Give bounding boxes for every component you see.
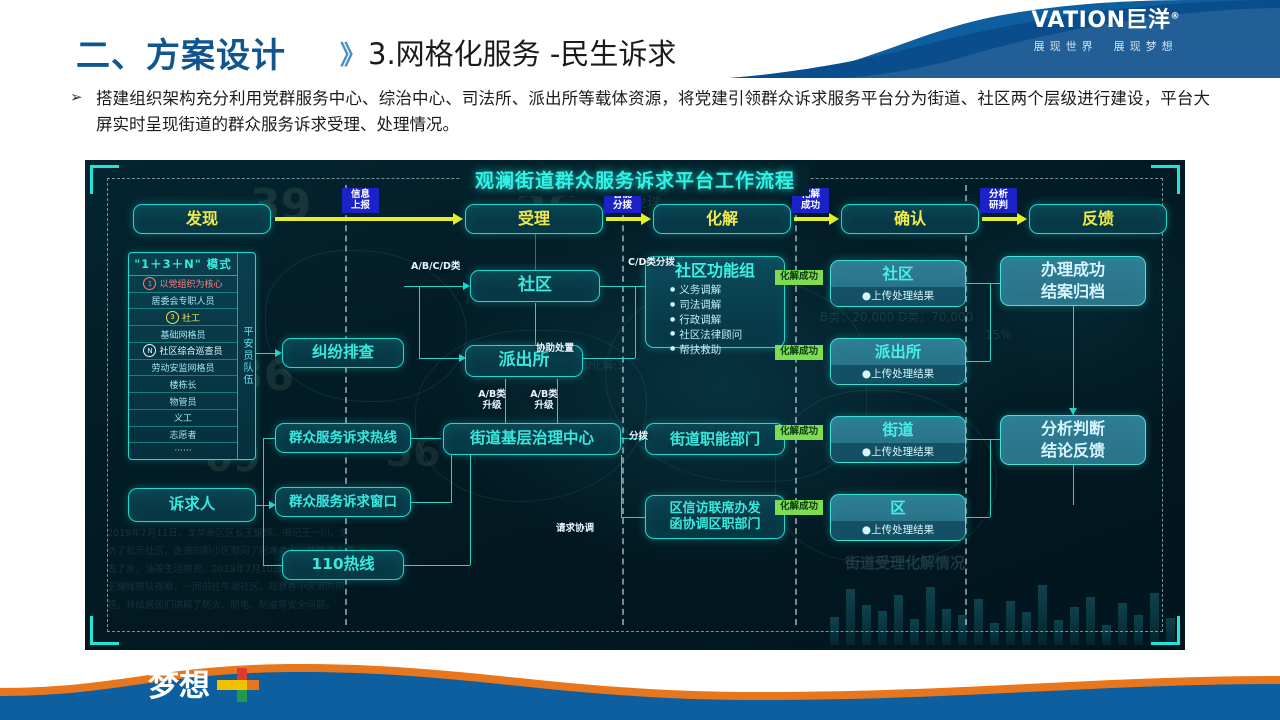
final-line-2: 结案归档 xyxy=(1041,281,1105,303)
corner-bracket xyxy=(90,165,119,194)
group-item: 帮扶救助 xyxy=(670,343,784,358)
flow-arrow-line xyxy=(982,217,1018,221)
corner-bracket xyxy=(1151,616,1180,645)
flow-arrow-head xyxy=(453,213,463,225)
edge-label-cd-dispatch: C/D类分拨 xyxy=(625,256,678,271)
connector xyxy=(263,505,264,565)
mode-row: 1以党组织为核心 xyxy=(129,276,237,293)
edge-label-abcd: A/B/C/D类 xyxy=(408,260,463,275)
flow-node-accept[interactable]: 受理 xyxy=(465,204,603,234)
flow-arrow-line xyxy=(794,217,830,221)
flow-node-street-department[interactable]: 街道职能部门 xyxy=(645,423,785,455)
connector xyxy=(411,438,441,439)
footer-logo-brand: VATION巨洋 xyxy=(166,652,259,668)
connector xyxy=(990,283,991,361)
connector xyxy=(1073,465,1074,505)
edge-label-ab-up-1: A/B类升级 xyxy=(475,388,509,413)
mode-row: 义工 xyxy=(129,410,237,427)
result-note: ●上传处理结果 xyxy=(831,521,965,540)
mode-panel-side-label: 平安员队伍 xyxy=(237,253,255,459)
brand-logo-tagline: 展现世界 展现梦想 xyxy=(1031,38,1180,54)
connector xyxy=(583,358,635,359)
connector xyxy=(966,283,1000,284)
result-node-district[interactable]: 区 ●上传处理结果 xyxy=(830,494,966,541)
result-title: 社区 xyxy=(831,261,965,287)
connector xyxy=(535,234,536,270)
connector xyxy=(600,286,645,287)
result-title: 区 xyxy=(831,495,965,521)
final-node-analysis[interactable]: 分析判断 结论反馈 xyxy=(1000,415,1146,465)
result-note: ●上传处理结果 xyxy=(831,287,965,306)
plus-cross-icon xyxy=(217,668,259,702)
mode-row: 3社工 xyxy=(129,309,237,326)
mode-row: N社区综合巡查员 xyxy=(129,343,237,360)
connector xyxy=(411,502,451,503)
edge-label-ab-up-2: A/B类升级 xyxy=(527,388,561,413)
connector xyxy=(535,303,536,345)
brand-logo: VATION巨洋® 展现世界 展现梦想 xyxy=(1031,10,1180,54)
connector xyxy=(990,439,991,517)
page-subtitle: 》3.网格化服务 -民生诉求 xyxy=(340,31,676,73)
footer-logo: VATION巨洋 梦想 xyxy=(148,652,259,702)
chevron-right-icon: 》 xyxy=(340,41,361,71)
flow-node-window[interactable]: 群众服务诉求窗口 xyxy=(275,487,411,517)
connector xyxy=(263,438,264,506)
mode-panel-title: "1＋3＋N" 模式 xyxy=(129,253,237,276)
flow-arrow-head xyxy=(829,213,839,225)
result-node-community[interactable]: 社区 ●上传处理结果 xyxy=(830,260,966,307)
result-title: 街道 xyxy=(831,417,965,443)
group-item: 义务调解 xyxy=(670,283,784,298)
group-item: 司法调解 xyxy=(670,298,784,313)
final-line-2: 结论反馈 xyxy=(1041,440,1105,462)
connector xyxy=(966,439,1000,440)
connector xyxy=(256,353,276,354)
tag-resolved-4: 化解成功 xyxy=(775,500,823,515)
connector xyxy=(966,517,990,518)
edge-label-request-coord: 请求协调 xyxy=(553,522,597,537)
connector xyxy=(419,358,463,359)
page-title: 二、方案设计 xyxy=(76,28,286,77)
edge-label-dispatch: 分拨 xyxy=(626,430,651,445)
footer-logo-main: 梦想 xyxy=(148,671,210,702)
connector xyxy=(621,517,645,518)
flow-node-110[interactable]: 110热线 xyxy=(282,550,404,580)
connector xyxy=(263,438,275,439)
mode-row: 楼栋长 xyxy=(129,376,237,393)
brand-logo-name: VATION巨洋® xyxy=(1031,10,1180,32)
result-node-street[interactable]: 街道 ●上传处理结果 xyxy=(830,416,966,463)
flow-node-resolve[interactable]: 化解 xyxy=(653,204,791,234)
flow-arrow-head xyxy=(641,213,651,225)
connector-arrow xyxy=(1069,408,1077,415)
mode-row: ······ xyxy=(129,443,237,459)
connector-arrow xyxy=(463,282,470,290)
result-title: 派出所 xyxy=(831,339,965,365)
circle-1-icon: 1 xyxy=(143,277,156,290)
result-note: ●上传处理结果 xyxy=(831,443,965,462)
mode-row: 物管员 xyxy=(129,393,237,410)
bullet-arrow-icon: ➢ xyxy=(70,88,83,106)
result-note: ●上传处理结果 xyxy=(831,365,965,384)
diagram-title: 观澜街道群众服务诉求平台工作流程 xyxy=(461,163,809,196)
tag-resolved-3: 化解成功 xyxy=(775,425,823,440)
node-line-1: 区信访联席办发 xyxy=(669,501,760,517)
connector xyxy=(451,455,452,503)
mode-row: 劳动安监网格员 xyxy=(129,360,237,377)
page-subtitle-text: 3.网格化服务 -民生诉求 xyxy=(368,37,676,71)
connector xyxy=(1073,306,1074,415)
connector-arrow xyxy=(275,349,282,357)
connector xyxy=(404,565,470,566)
mode-row: 基础网格员 xyxy=(129,326,237,343)
flow-node-governance-center[interactable]: 街道基层治理中心 xyxy=(443,423,621,455)
registered-icon: ® xyxy=(1171,12,1181,22)
result-node-police[interactable]: 派出所 ●上传处理结果 xyxy=(830,338,966,385)
group-item: 行政调解 xyxy=(670,313,784,328)
corner-bracket xyxy=(90,616,119,645)
connector xyxy=(470,455,471,565)
flow-node-community[interactable]: 社区 xyxy=(470,270,600,302)
connector xyxy=(263,565,282,566)
circle-3-icon: 3 xyxy=(166,311,179,324)
flow-arrow-line xyxy=(275,217,455,221)
group-item-list: 义务调解 司法调解 行政调解 社区法律顾问 帮扶救助 xyxy=(646,283,784,358)
flow-node-petitioner[interactable]: 诉求人 xyxy=(128,488,256,522)
mode-panel-rows: "1＋3＋N" 模式 1以党组织为核心 居委会专职人员 3社工 基础网格员 N社… xyxy=(129,253,237,459)
corner-bracket xyxy=(1151,165,1180,194)
tag-resolved-1: 化解成功 xyxy=(775,270,823,285)
flow-node-confirm[interactable]: 确认 xyxy=(841,204,979,234)
workflow-diagram: 39 36 09 56 26 73 B类：20,000 D类：70,000 街道… xyxy=(85,160,1185,650)
bullet-text: 搭建组织架构充分利用党群服务中心、综治中心、司法所、派出所等载体资源，将党建引领… xyxy=(70,86,1210,137)
flow-node-hotline[interactable]: 群众服务诉求热线 xyxy=(275,423,411,453)
footer-band: VATION巨洋 梦想 xyxy=(0,648,1280,720)
connector xyxy=(621,455,622,517)
final-node-archive[interactable]: 办理成功 结案归档 xyxy=(1000,256,1146,306)
diagram-dashed-frame xyxy=(107,178,1163,632)
flow-node-feedback[interactable]: 反馈 xyxy=(1029,204,1167,234)
bullet-paragraph: ➢ 搭建组织架构充分利用党群服务中心、综治中心、司法所、派出所等载体资源，将党建… xyxy=(70,86,1210,137)
group-item: 社区法律顾问 xyxy=(670,328,784,343)
flow-node-district-petition-office[interactable]: 区信访联席办发 函协调区职部门 xyxy=(645,495,785,539)
connector xyxy=(419,286,420,358)
final-line-1: 办理成功 xyxy=(1041,259,1105,281)
flow-node-discover[interactable]: 发现 xyxy=(133,204,271,234)
tag-analyze: 分析研判 xyxy=(980,188,1017,213)
node-line-2: 函协调区职部门 xyxy=(669,517,760,533)
flow-arrow-head xyxy=(1017,213,1027,225)
tag-report: 信息上报 xyxy=(342,188,379,213)
flow-node-dispute-check[interactable]: 纠纷排查 xyxy=(282,338,404,368)
final-line-1: 分析判断 xyxy=(1041,418,1105,440)
flow-arrow-line xyxy=(606,217,642,221)
connector xyxy=(404,286,464,287)
mode-panel-1-3-n: "1＋3＋N" 模式 1以党组织为核心 居委会专职人员 3社工 基础网格员 N社… xyxy=(128,252,256,460)
mode-row: 居委会专职人员 xyxy=(129,293,237,310)
connector xyxy=(635,286,636,358)
mode-row: 志愿者 xyxy=(129,427,237,444)
edge-label-assist: 协助处置 xyxy=(533,342,577,357)
connector xyxy=(966,361,990,362)
circle-n-icon: N xyxy=(143,344,156,357)
tag-resolved-2: 化解成功 xyxy=(775,345,823,360)
